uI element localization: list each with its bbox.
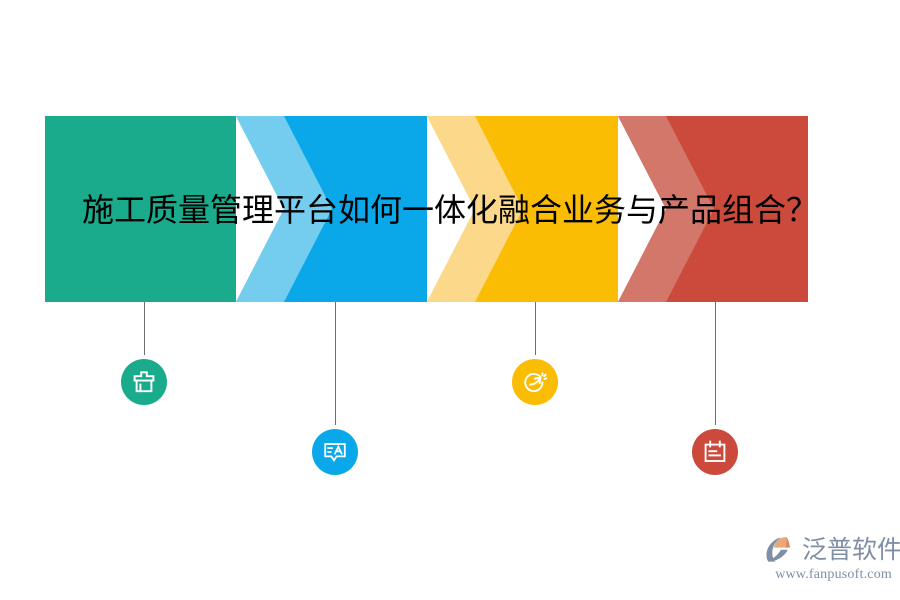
connector-line-4: [715, 302, 716, 425]
page-title: 施工质量管理平台如何一体化融合业务与产品组合？: [0, 186, 900, 234]
marker-badge-shop[interactable]: [121, 359, 167, 405]
growth-icon: [522, 369, 548, 395]
fanpu-mark-icon: [766, 534, 800, 566]
shop-icon: [131, 369, 157, 395]
marker-badge-calendar[interactable]: [692, 429, 738, 475]
brand-name: 泛普软件: [802, 535, 900, 565]
connector-line-1: [144, 302, 145, 355]
fanpu-mark-svg: [766, 534, 800, 566]
brand-logo-row: 泛普软件: [766, 534, 892, 566]
marker-badge-translate[interactable]: [312, 429, 358, 475]
connector-line-3: [535, 302, 536, 355]
brand-url: www.fanpusoft.com: [766, 567, 892, 583]
translate-icon: [322, 439, 348, 465]
connector-line-2: [335, 302, 336, 425]
marker-badge-growth[interactable]: [512, 359, 558, 405]
brand-logo[interactable]: 泛普软件 www.fanpusoft.com: [766, 534, 892, 584]
poster-canvas: 施工质量管理平台如何一体化融合业务与产品组合？: [0, 0, 900, 600]
calendar-icon: [702, 439, 728, 465]
